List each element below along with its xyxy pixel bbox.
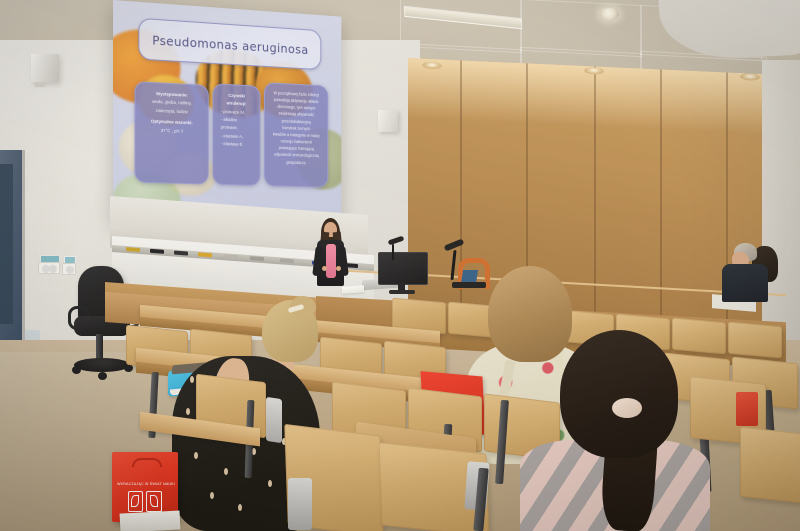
door-glass-panel (0, 164, 13, 324)
orange-stand-base (452, 282, 486, 288)
presenter-hand (322, 266, 327, 271)
chair-caster (72, 366, 81, 374)
slide-box-occurrence: Występowanie: woda, gleba, rośliny, zwie… (134, 81, 208, 184)
wall-speaker-icon (31, 54, 59, 82)
projection-screen: Pseudomonas aeruginosa Występowanie: wod… (113, 0, 341, 226)
power-outlet (38, 262, 60, 274)
marker-icon (198, 252, 212, 257)
seat-backrest[interactable] (740, 427, 800, 504)
power-outlet (62, 263, 76, 275)
seat-backrest[interactable] (672, 318, 726, 355)
marker-icon (280, 258, 294, 263)
bag-handle (132, 458, 162, 467)
virulence-item-5: - elastase B (217, 140, 256, 150)
foreground-hair (560, 330, 678, 458)
occurrence-line-2: zwierzęta, ludzie (139, 106, 204, 117)
marker-icon (224, 254, 238, 259)
monitor[interactable] (378, 252, 428, 285)
monitor-base (389, 290, 415, 294)
lecture-hall-photo: Pseudomonas aeruginosa Występowanie: wod… (0, 0, 800, 531)
seat-hinge (266, 397, 282, 443)
white-object-floor (120, 510, 181, 531)
wall-speaker-icon (378, 110, 398, 132)
marker-icon (174, 251, 188, 256)
seat-hinge (288, 478, 312, 530)
red-bag-far[interactable] (736, 392, 758, 426)
slide-box-virulence: Czynniki wirulencji: - proteaze IV, - al… (212, 83, 260, 186)
marker-icon (126, 247, 140, 252)
presentation-slide: Pseudomonas aeruginosa Występowanie: wod… (113, 0, 341, 226)
conditions-line-1: 37°C , pH 7 (139, 126, 204, 137)
presenter-hand (336, 266, 341, 271)
bag-logo-icon (128, 491, 162, 513)
slide-box-infection: W początkowej fazie infekcji powodują ak… (264, 82, 328, 188)
hair-scrunchie (612, 398, 642, 418)
red-bag-floor-text: WKRACZAJĄC W ŚWIAT NAUKI (117, 482, 175, 486)
chair-base (74, 358, 130, 372)
man-torso (722, 264, 768, 302)
presenter-shirt (326, 244, 336, 278)
ceiling-downlight (600, 8, 619, 20)
marker-icon (150, 249, 164, 254)
floral-woman-hair (488, 266, 572, 362)
marker-icon (250, 256, 264, 261)
seat-backrest[interactable] (728, 322, 782, 359)
chair-caster (98, 372, 107, 380)
